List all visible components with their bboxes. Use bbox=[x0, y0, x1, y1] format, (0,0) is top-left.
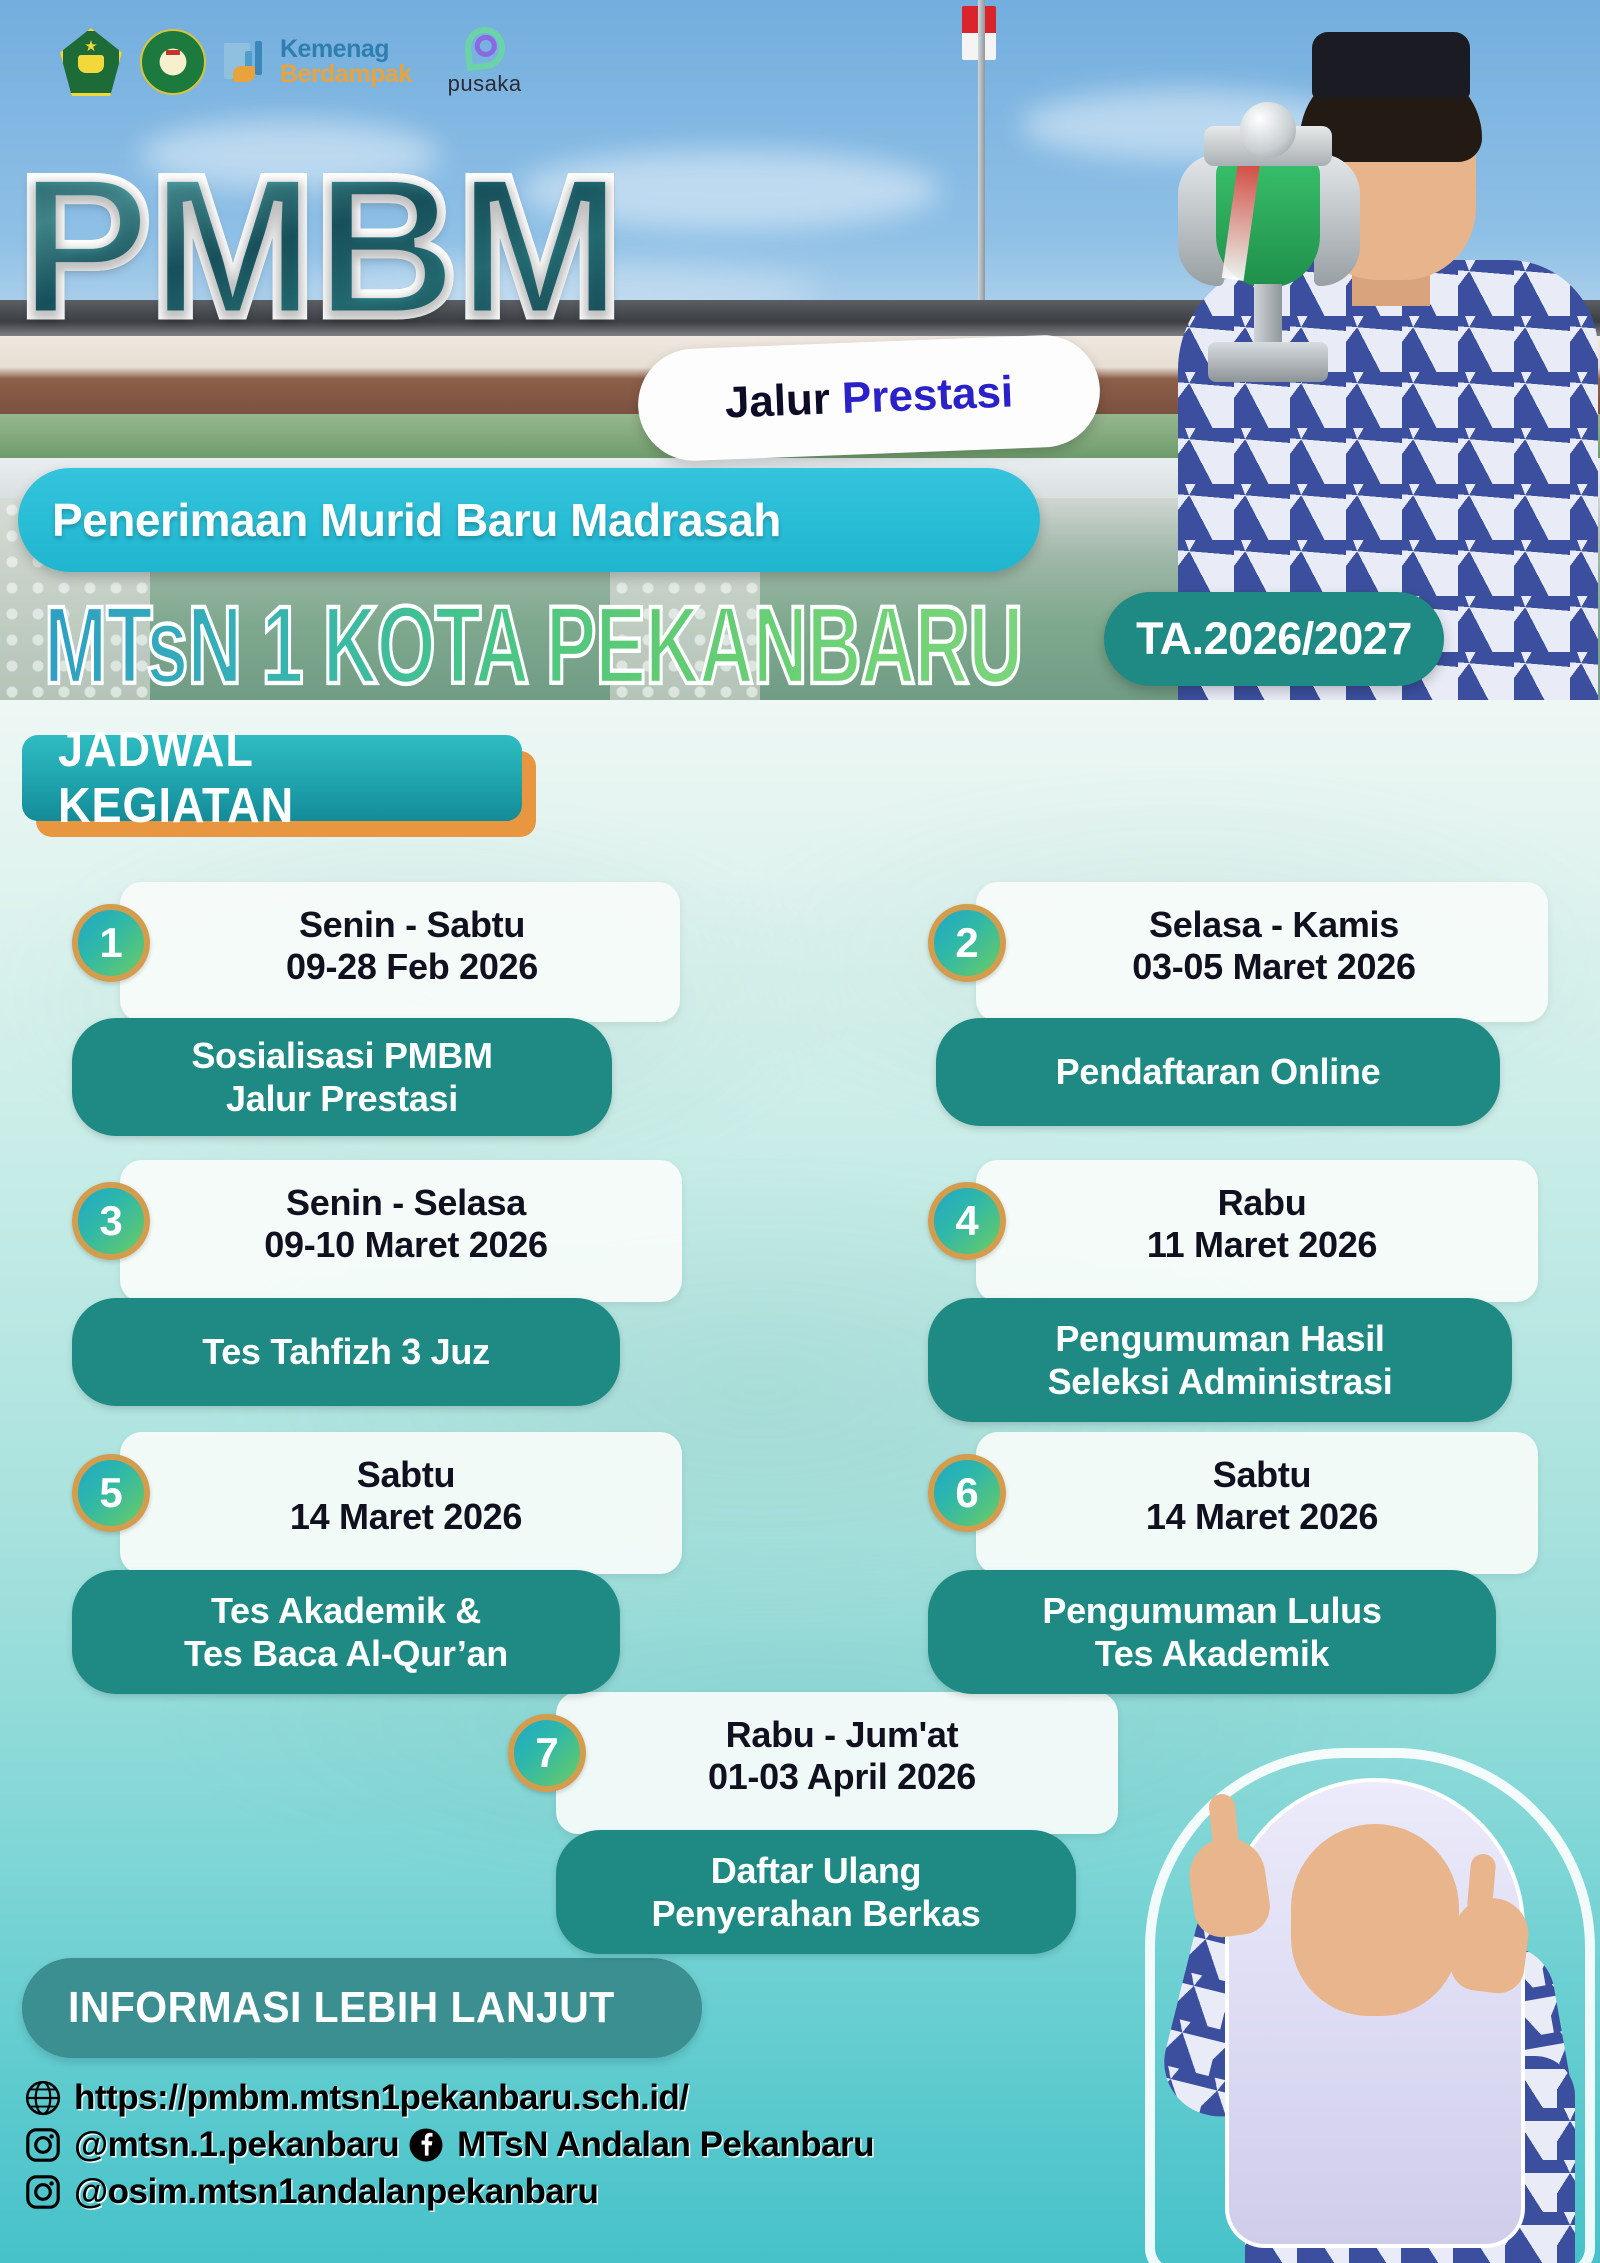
instagram-icon bbox=[24, 2173, 62, 2211]
schedule-label-line1: Tes Akademik & bbox=[184, 1589, 508, 1632]
schedule-item-6[interactable]: 6 Sabtu 14 Maret 2026 Pengumuman Lulus T… bbox=[928, 1432, 1568, 1712]
schedule-date: Senin - Sabtu 09-28 Feb 2026 bbox=[192, 904, 632, 989]
info-heading-text: INFORMASI LEBIH LANJUT bbox=[68, 1983, 615, 2033]
academic-year-text: TA.2026/2027 bbox=[1136, 613, 1412, 665]
mtsn-logo-icon bbox=[140, 29, 206, 95]
schedule-item-1[interactable]: 1 Senin - Sabtu 09-28 Feb 2026 Sosialisa… bbox=[72, 882, 712, 1152]
schedule-number-badge: 2 bbox=[928, 904, 1006, 982]
kemenag-logo-icon bbox=[60, 28, 122, 96]
trophy-stem bbox=[1254, 284, 1282, 344]
schedule-day: Rabu bbox=[1034, 1182, 1490, 1224]
instagram-handle-2[interactable]: @osim.mtsn1andalanpekanbaru bbox=[74, 2172, 598, 2212]
pusaka-logo: pusaka bbox=[448, 27, 522, 97]
contact-social-row[interactable]: @mtsn.1.pekanbaru MTsN Andalan Pekanbaru bbox=[24, 2125, 1044, 2165]
schedule-label-line1: Pengumuman Hasil bbox=[1048, 1317, 1393, 1360]
schedule-label: Pengumuman Lulus Tes Akademik bbox=[928, 1570, 1496, 1694]
contact-list: https://pmbm.mtsn1pekanbaru.sch.id/ @mts… bbox=[24, 2078, 1044, 2219]
schedule-date: Sabtu 14 Maret 2026 bbox=[178, 1454, 634, 1539]
kemenag-berdampak-line1: Kemenag bbox=[280, 37, 412, 62]
schedule-number-badge: 5 bbox=[72, 1454, 150, 1532]
schedule-number-badge: 3 bbox=[72, 1182, 150, 1260]
schedule-label: Daftar Ulang Penyerahan Berkas bbox=[556, 1830, 1076, 1954]
schedule-date: Rabu - Jum'at 01-03 April 2026 bbox=[614, 1714, 1070, 1799]
schedule-date: Selasa - Kamis 03-05 Maret 2026 bbox=[1048, 904, 1500, 989]
schedule-label-line1: Sosialisasi PMBM bbox=[191, 1034, 492, 1077]
kemenag-berdampak-logo: Kemenag Berdampak bbox=[224, 37, 412, 87]
contact-osim-row[interactable]: @osim.mtsn1andalanpekanbaru bbox=[24, 2172, 1044, 2212]
schedule-number: 2 bbox=[955, 922, 978, 964]
schedule-label: Tes Akademik & Tes Baca Al-Qur’an bbox=[72, 1570, 620, 1694]
kemenag-berdampak-mark-icon bbox=[224, 39, 272, 85]
jalur-prestasi-badge: Jalur Prestasi bbox=[636, 333, 1102, 463]
student-girl-photo bbox=[1095, 1648, 1600, 2263]
hero-banner: Kemenag Berdampak pusaka bbox=[0, 0, 1600, 700]
schedule-day: Sabtu bbox=[178, 1454, 634, 1496]
prestasi-word: Prestasi bbox=[841, 367, 1014, 424]
instagram-handle-1[interactable]: @mtsn.1.pekanbaru bbox=[74, 2125, 399, 2165]
schedule-date: Rabu 11 Maret 2026 bbox=[1034, 1182, 1490, 1267]
schedule-item-5[interactable]: 5 Sabtu 14 Maret 2026 Tes Akademik & Tes… bbox=[72, 1432, 712, 1712]
page-title: PMBM bbox=[18, 152, 621, 342]
academic-year-badge: TA.2026/2027 bbox=[1104, 592, 1444, 686]
info-heading-badge: INFORMASI LEBIH LANJUT bbox=[22, 1958, 702, 2058]
schedule-number-badge: 1 bbox=[72, 904, 150, 982]
schedule-number-badge: 7 bbox=[508, 1714, 586, 1792]
schedule-item-4[interactable]: 4 Rabu 11 Maret 2026 Pengumuman Hasil Se… bbox=[928, 1160, 1568, 1430]
schedule-number-badge: 6 bbox=[928, 1454, 1006, 1532]
subtitle-banner: Penerimaan Murid Baru Madrasah bbox=[18, 468, 1040, 572]
school-name: MTsN 1 KOTA PEKANBARU bbox=[44, 583, 1022, 700]
schedule-date-value: 09-10 Maret 2026 bbox=[178, 1224, 634, 1266]
schedule-label: Pendaftaran Online bbox=[936, 1018, 1500, 1126]
boy-peci-cap bbox=[1312, 32, 1470, 98]
schedule-label-line2: Penyerahan Berkas bbox=[651, 1892, 980, 1935]
schedule-heading-wrap: JADWAL KEGIATAN bbox=[22, 735, 522, 821]
schedule-date: Senin - Selasa 09-10 Maret 2026 bbox=[178, 1182, 634, 1267]
trophy-base bbox=[1208, 342, 1328, 382]
girl-face bbox=[1291, 1824, 1459, 2016]
schedule-date-value: 11 Maret 2026 bbox=[1034, 1224, 1490, 1266]
schedule-label-line1: Daftar Ulang bbox=[651, 1849, 980, 1892]
subtitle-text: Penerimaan Murid Baru Madrasah bbox=[52, 493, 781, 547]
jalur-word: Jalur bbox=[724, 375, 831, 429]
globe-icon bbox=[24, 2079, 62, 2117]
schedule-item-7[interactable]: 7 Rabu - Jum'at 01-03 April 2026 Daftar … bbox=[508, 1692, 1148, 1972]
schedule-number: 4 bbox=[955, 1200, 978, 1242]
schedule-number: 1 bbox=[99, 922, 122, 964]
schedule-date: Sabtu 14 Maret 2026 bbox=[1034, 1454, 1490, 1539]
schedule-day: Senin - Sabtu bbox=[192, 904, 632, 946]
schedule-date-value: 14 Maret 2026 bbox=[178, 1496, 634, 1538]
pusaka-label: pusaka bbox=[448, 71, 522, 97]
pusaka-mark-icon bbox=[463, 25, 507, 71]
schedule-item-2[interactable]: 2 Selasa - Kamis 03-05 Maret 2026 Pendaf… bbox=[928, 882, 1568, 1152]
schedule-number: 5 bbox=[99, 1472, 122, 1514]
schedule-heading: JADWAL KEGIATAN bbox=[22, 735, 522, 821]
contact-website-row[interactable]: https://pmbm.mtsn1pekanbaru.sch.id/ bbox=[24, 2078, 1044, 2118]
trophy-handle-right bbox=[1314, 154, 1360, 286]
schedule-day: Selasa - Kamis bbox=[1048, 904, 1500, 946]
schedule-label-line2: Tes Baca Al-Qur’an bbox=[184, 1632, 508, 1675]
trophy-icon bbox=[1174, 102, 1364, 432]
poster-root: Kemenag Berdampak pusaka bbox=[0, 0, 1600, 2263]
schedule-heading-text: JADWAL KEGIATAN bbox=[58, 722, 485, 834]
schedule-label-line2: Jalur Prestasi bbox=[191, 1077, 492, 1120]
schedule-date-value: 03-05 Maret 2026 bbox=[1048, 946, 1500, 988]
website-url[interactable]: https://pmbm.mtsn1pekanbaru.sch.id/ bbox=[74, 2078, 689, 2118]
kemenag-berdampak-line2: Berdampak bbox=[280, 62, 412, 87]
schedule-day: Sabtu bbox=[1034, 1454, 1490, 1496]
schedule-label-line2: Seleksi Administrasi bbox=[1048, 1360, 1393, 1403]
schedule-number: 6 bbox=[955, 1472, 978, 1514]
schedule-label: Pengumuman Hasil Seleksi Administrasi bbox=[928, 1298, 1512, 1422]
schedule-label-line1: Pengumuman Lulus bbox=[1042, 1589, 1381, 1632]
logo-row: Kemenag Berdampak pusaka bbox=[60, 22, 522, 102]
schedule-date-value: 09-28 Feb 2026 bbox=[192, 946, 632, 988]
trophy-top-ball bbox=[1240, 102, 1296, 158]
schedule-label: Sosialisasi PMBM Jalur Prestasi bbox=[72, 1018, 612, 1136]
facebook-page-name[interactable]: MTsN Andalan Pekanbaru bbox=[457, 2125, 874, 2165]
schedule-day: Senin - Selasa bbox=[178, 1182, 634, 1224]
schedule-label-line1: Pendaftaran Online bbox=[1056, 1050, 1381, 1093]
schedule-number-badge: 4 bbox=[928, 1182, 1006, 1260]
schedule-day: Rabu - Jum'at bbox=[614, 1714, 1070, 1756]
schedule-label: Tes Tahfizh 3 Juz bbox=[72, 1298, 620, 1406]
schedule-date-value: 01-03 April 2026 bbox=[614, 1756, 1070, 1798]
instagram-icon bbox=[24, 2126, 62, 2164]
schedule-number: 3 bbox=[99, 1200, 122, 1242]
facebook-icon bbox=[407, 2126, 445, 2164]
schedule-item-3[interactable]: 3 Senin - Selasa 09-10 Maret 2026 Tes Ta… bbox=[72, 1160, 712, 1430]
schedule-number: 7 bbox=[535, 1732, 558, 1774]
schedule-label-line2: Tes Akademik bbox=[1042, 1632, 1381, 1675]
schedule-label-line1: Tes Tahfizh 3 Juz bbox=[202, 1330, 490, 1373]
schedule-date-value: 14 Maret 2026 bbox=[1034, 1496, 1490, 1538]
